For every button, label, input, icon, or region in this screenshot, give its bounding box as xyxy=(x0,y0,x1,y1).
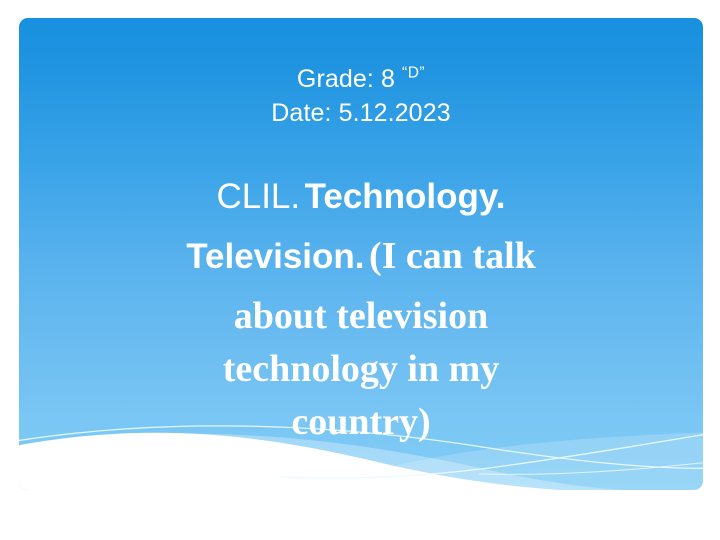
title-objective-start: (I can talk xyxy=(369,235,536,277)
title-line-3: about television xyxy=(19,290,703,343)
title-technology: Technology. xyxy=(305,177,506,216)
title-line-1: CLIL. Technology. xyxy=(19,170,703,230)
title-line-4: technology in my xyxy=(19,343,703,396)
grade-value: “D” xyxy=(402,65,425,82)
date-line: Date: 5.12.2023 xyxy=(19,96,703,130)
grade-line: Grade: 8 “D” xyxy=(19,62,703,96)
slide-subheader: Grade: 8 “D” Date: 5.12.2023 xyxy=(19,62,703,130)
title-clil: CLIL. xyxy=(216,177,300,216)
title-television: Television. xyxy=(186,237,364,276)
title-line-2: Television. (I can talk xyxy=(19,230,703,290)
title-line-5: country) xyxy=(19,396,703,449)
grade-label: Grade: 8 xyxy=(297,65,395,93)
slide-title: CLIL. Technology. Television. (I can tal… xyxy=(19,170,703,449)
slide-content: Grade: 8 “D” Date: 5.12.2023 CLIL. Techn… xyxy=(19,18,703,490)
presentation-slide: Grade: 8 “D” Date: 5.12.2023 CLIL. Techn… xyxy=(0,0,720,540)
